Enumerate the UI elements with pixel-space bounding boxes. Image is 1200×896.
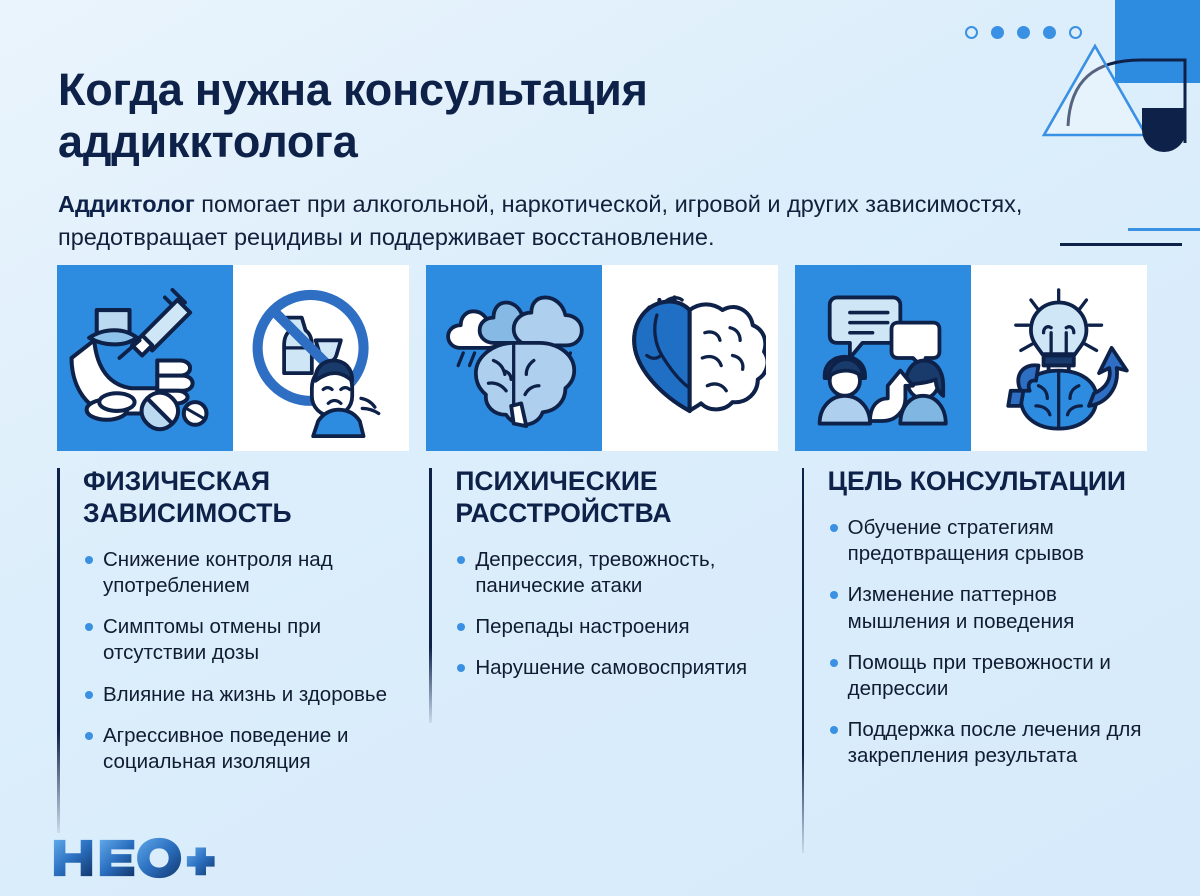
subtitle-lead: Аддиктолог (58, 191, 195, 217)
content-columns: ФИЗИЧЕСКАЯ ЗАВИСИМОСТЬ Снижение контроля… (57, 466, 1157, 790)
panel-group-goal (795, 265, 1147, 451)
column-1-list: Снижение контроля над употреблением Симп… (83, 547, 412, 776)
panel-group-physical (57, 265, 409, 451)
column-divider-2 (429, 468, 432, 723)
column-mental-disorders: ПСИХИЧЕСКИЕ РАССТРОЙСТВА Депрессия, трев… (429, 466, 784, 790)
heart-brain-half-icon (602, 265, 778, 451)
panel-group-mental (426, 265, 778, 451)
column-2-heading: ПСИХИЧЕСКИЕ РАССТРОЙСТВА (455, 466, 784, 530)
list-item: Перепады настроения (455, 614, 784, 640)
arm-syringe-pills-icon (57, 265, 233, 451)
list-item: Помощь при тревожности и депрессии (828, 650, 1157, 702)
blue-rule-decor (1128, 228, 1200, 231)
subtitle-rest: помогает при алкогольной, наркотической,… (58, 191, 1022, 250)
list-item: Поддержка после лечения для закрепления … (828, 717, 1157, 769)
list-item: Депрессия, тревожность, панические атаки (455, 547, 784, 599)
column-divider-1 (57, 468, 60, 833)
list-item: Влияние на жизнь и здоровье (83, 682, 412, 708)
navy-quarter-circle-decor (1142, 108, 1186, 152)
lightbulb-brain-arrows-icon (971, 265, 1147, 451)
list-item: Агрессивное поведение и социальная изоля… (83, 723, 412, 775)
column-physical-dependence: ФИЗИЧЕСКАЯ ЗАВИСИМОСТЬ Снижение контроля… (57, 466, 412, 790)
list-item: Обучение стратегиям предотвращения срыво… (828, 515, 1157, 567)
storm-cloud-brain-icon (426, 265, 602, 451)
page-subtitle: Аддиктолог помогает при алкогольной, нар… (58, 188, 1118, 255)
column-consultation-goal: ЦЕЛЬ КОНСУЛЬТАЦИИ Обучение стратегиям пр… (802, 466, 1157, 790)
column-3-list: Обучение стратегиям предотвращения срыво… (828, 515, 1157, 770)
no-alcohol-sad-person-icon (233, 265, 409, 451)
dot-2-icon (991, 26, 1004, 39)
page-title: Когда нужна консультация аддикктолога (58, 64, 888, 168)
image-panel-row (57, 265, 1147, 451)
dot-1-icon (965, 26, 978, 39)
triangle-outline-decor (1040, 40, 1150, 140)
column-2-list: Депрессия, тревожность, панические атаки… (455, 547, 784, 682)
infographic-canvas: Когда нужна консультация аддикктолога Ад… (0, 0, 1200, 896)
people-speech-bubbles-arrow-icon (795, 265, 971, 451)
column-3-heading: ЦЕЛЬ КОНСУЛЬТАЦИИ (828, 466, 1157, 498)
list-item: Симптомы отмены при отсутствии дозы (83, 614, 412, 666)
column-1-heading: ФИЗИЧЕСКАЯ ЗАВИСИМОСТЬ (83, 466, 412, 530)
list-item: Снижение контроля над употреблением (83, 547, 412, 599)
neo-plus-logo (52, 836, 215, 880)
column-divider-3 (802, 468, 805, 853)
list-item: Нарушение самовосприятия (455, 655, 784, 681)
list-item: Изменение паттернов мышления и поведения (828, 582, 1157, 634)
